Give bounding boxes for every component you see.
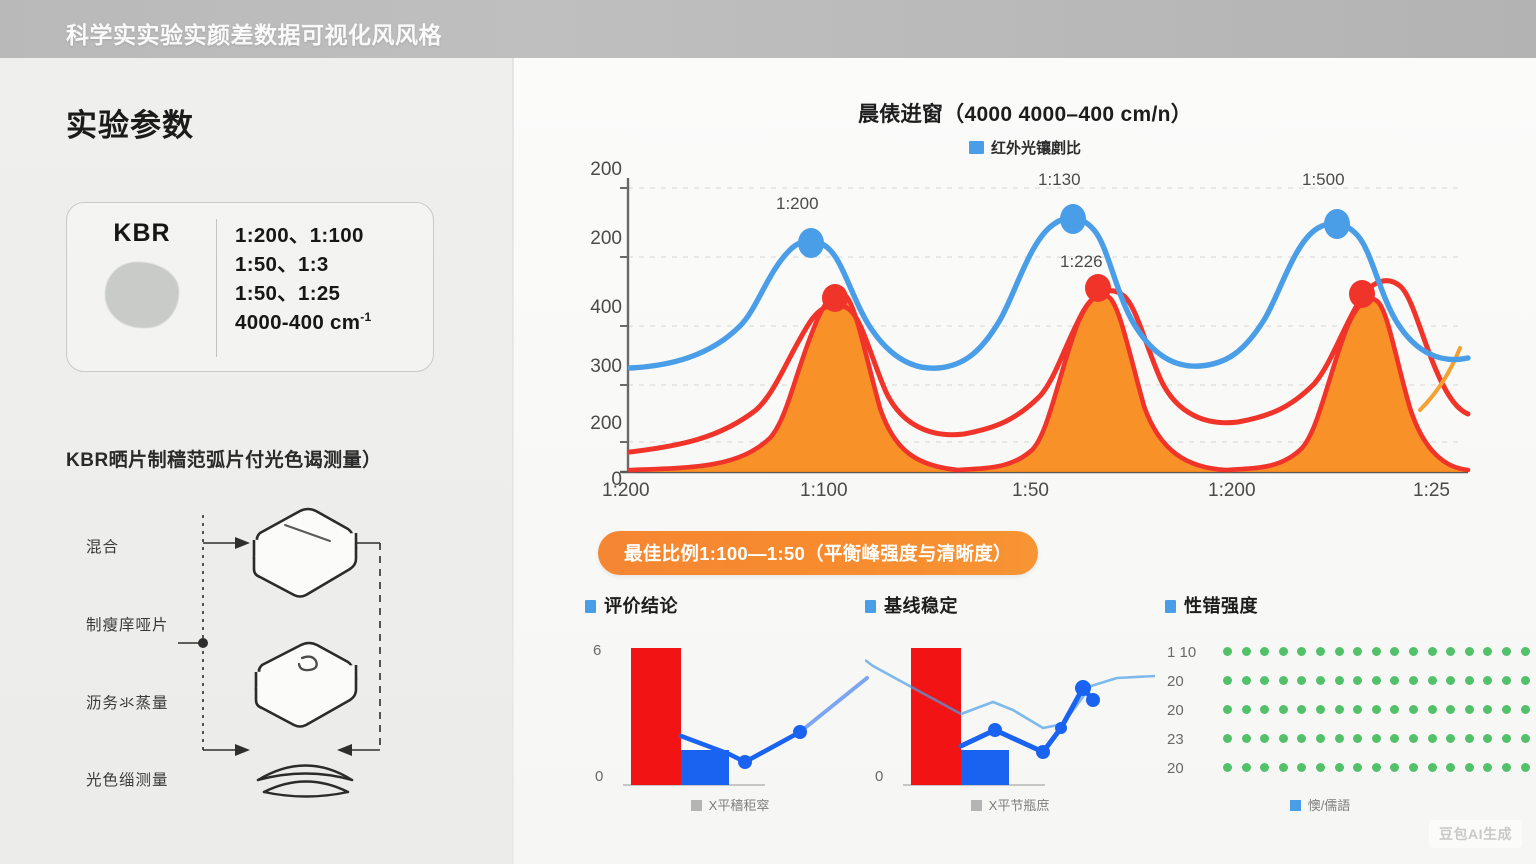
optimal-ratio-banner[interactable]: 最佳比例1:100—1:50（平衡峰强度与清晰度） [598, 531, 1038, 575]
mini-1-footer-text: X平穑秬窣 [709, 798, 770, 813]
dot [1521, 734, 1530, 743]
flow-diagram: 混合 制瘦庠哑片 沥务氺蒸量 光色缁测量 [60, 495, 460, 815]
dot [1446, 763, 1455, 772]
dot [1372, 734, 1381, 743]
mini-chart-2-title: 基线稳定 [865, 592, 1155, 618]
dot [1279, 705, 1288, 714]
kbr-range-text: 4000-400 cm [235, 311, 360, 334]
dot [1316, 705, 1325, 714]
dot [1465, 647, 1474, 656]
mini-3-swatch-icon [1165, 600, 1176, 613]
mini-chart-baseline: 基线稳定 0 X平节瓶庶 [865, 592, 1155, 842]
mini-1-footer-swatch-icon [691, 800, 702, 811]
dot [1465, 734, 1474, 743]
dot [1297, 705, 1306, 714]
mini-chart-3-title: 性错强度 [1165, 592, 1475, 618]
dot [1390, 705, 1399, 714]
dot [1242, 676, 1251, 685]
dot-row-2 [1223, 676, 1536, 685]
dot [1465, 705, 1474, 714]
mini-chart-evaluation: 评价结论 6 0 X平穑秬窣 [585, 592, 875, 842]
dot [1260, 676, 1269, 685]
dot [1260, 647, 1269, 656]
kbr-label: KBR [113, 219, 170, 248]
dot [1316, 676, 1325, 685]
mini-1-title-text: 评价结论 [604, 596, 678, 616]
mini-2-footer-text: X平节瓶庶 [989, 798, 1050, 813]
dot [1446, 676, 1455, 685]
x-tick-2: 1:50 [1012, 480, 1049, 502]
mini-chart-intensity: 性错强度 1 1020202320 懊/儒語 [1165, 592, 1475, 842]
dot [1428, 763, 1437, 772]
main-chart-x-axis: 1:200 1:100 1:50 1:200 1:25 [560, 480, 1480, 510]
slide-root: 科学实实验实颜差数据可视化风风格 实验参数 KBR 1:200、1:100 1:… [0, 0, 1536, 864]
main-chart-legend: 红外光镶剫比 [514, 137, 1536, 158]
mini-chart-2-body: 0 X平节瓶庶 [865, 640, 1155, 810]
flow-diagram-sketch-icon [60, 495, 460, 815]
dot [1353, 763, 1362, 772]
dot [1390, 763, 1399, 772]
dot [1372, 647, 1381, 656]
dot [1242, 647, 1251, 656]
page-title: 科学实实验实颜差数据可视化风风格 [66, 16, 442, 50]
dot-row-label-3: 20 [1167, 702, 1184, 719]
kbr-value-line-1: 1:200、1:100 [235, 221, 433, 250]
dot [1335, 763, 1344, 772]
dot [1390, 647, 1399, 656]
dot [1521, 647, 1530, 656]
legend-swatch-icon [969, 141, 984, 154]
dot [1465, 763, 1474, 772]
dot-row-3 [1223, 705, 1536, 714]
dot [1483, 734, 1492, 743]
dot [1372, 676, 1381, 685]
mini-2-svg [865, 640, 1155, 800]
dot-row-4 [1223, 734, 1536, 743]
mini-3-footer-text: 懊/儒語 [1308, 798, 1351, 813]
mini-chart-1-body: 6 0 X平穑秬窣 [585, 640, 875, 810]
point-label-4: 1:226 [1060, 252, 1103, 272]
dot [1279, 763, 1288, 772]
dot [1502, 705, 1511, 714]
dot [1428, 676, 1437, 685]
dot [1223, 734, 1232, 743]
mini-1-swatch-icon [585, 600, 596, 613]
dot [1390, 676, 1399, 685]
dot [1242, 705, 1251, 714]
dot-row-5 [1223, 763, 1536, 772]
dot [1335, 734, 1344, 743]
mini-2-title-text: 基线稳定 [884, 596, 958, 616]
dot [1521, 763, 1530, 772]
dot [1483, 647, 1492, 656]
dot [1446, 734, 1455, 743]
mini-chart-1-title: 评价结论 [585, 592, 875, 618]
dot [1465, 676, 1474, 685]
dot [1446, 647, 1455, 656]
dot [1409, 647, 1418, 656]
dot [1409, 676, 1418, 685]
dot [1502, 676, 1511, 685]
mini-2-bar-red [911, 648, 961, 785]
dot-row-label-5: 20 [1167, 760, 1184, 777]
main-chart-plot: 1:200 1:130 1:500 1:226 [560, 170, 1480, 520]
dot-row-label-1: 1 10 [1167, 644, 1196, 661]
mini-2-footer-swatch-icon [971, 800, 982, 811]
x-tick-0: 1:200 [602, 480, 650, 502]
dot [1428, 647, 1437, 656]
dot [1502, 763, 1511, 772]
dot [1502, 647, 1511, 656]
dot [1335, 647, 1344, 656]
watermark: 豆包AI生成 [1429, 820, 1522, 848]
dot [1316, 647, 1325, 656]
dot [1372, 763, 1381, 772]
dot-row-1 [1223, 647, 1536, 656]
x-tick-1: 1:100 [800, 480, 848, 502]
dot [1279, 734, 1288, 743]
dot [1353, 647, 1362, 656]
dot [1483, 763, 1492, 772]
mini-3-footer-swatch-icon [1290, 800, 1301, 811]
dot [1279, 676, 1288, 685]
dot [1446, 705, 1455, 714]
dot [1297, 676, 1306, 685]
dot [1335, 705, 1344, 714]
dot [1353, 705, 1362, 714]
dot [1428, 734, 1437, 743]
card-vertical-divider [216, 219, 218, 357]
dot [1428, 705, 1437, 714]
dot [1223, 647, 1232, 656]
main-chart-svg [560, 170, 1480, 490]
mini-1-bar-blue [681, 750, 729, 785]
dot [1260, 734, 1269, 743]
point-label-1: 1:200 [776, 194, 819, 214]
top-header-bar: 科学实实验实颜差数据可视化风风格 [0, 0, 1536, 58]
dot [1409, 763, 1418, 772]
kbr-parameter-card: KBR 1:200、1:100 1:50、1:3 1:50、1:25 4000-… [66, 202, 434, 372]
kbr-card-values: 1:200、1:100 1:50、1:3 1:50、1:25 4000-400 … [217, 203, 433, 371]
dot [1353, 676, 1362, 685]
dot [1223, 705, 1232, 714]
dot [1316, 763, 1325, 772]
dot [1521, 705, 1530, 714]
dot [1372, 705, 1381, 714]
mini-1-bar-red [631, 648, 681, 785]
kbr-superscript: -1 [360, 311, 371, 325]
dot [1242, 763, 1251, 772]
dot [1260, 705, 1269, 714]
dot [1409, 734, 1418, 743]
dot [1223, 763, 1232, 772]
dot [1297, 734, 1306, 743]
kbr-value-line-2: 1:50、1:3 [235, 250, 433, 279]
flow-diagram-title: KBR晒片制穑范弧片付光色谒测量） [66, 445, 382, 472]
mini-3-footer: 懊/儒語 [1165, 795, 1475, 814]
dot [1279, 647, 1288, 656]
mini-2-swatch-icon [865, 600, 876, 613]
dot [1353, 734, 1362, 743]
mini-3-title-text: 性错强度 [1184, 596, 1258, 616]
mini-1-footer: X平穑秬窣 [585, 795, 875, 814]
kbr-sample-blob-icon [105, 262, 179, 328]
kbr-value-line-3: 1:50、1:25 [235, 279, 433, 308]
mini-2-bar-blue [961, 750, 1009, 785]
dot [1521, 676, 1530, 685]
point-label-3: 1:500 [1302, 170, 1345, 190]
kbr-value-line-4: 4000-400 cm-1 [235, 308, 433, 337]
x-tick-4: 1:25 [1413, 480, 1450, 502]
dot [1335, 676, 1344, 685]
dot [1223, 676, 1232, 685]
dot [1297, 647, 1306, 656]
mini-2-footer: X平节瓶庶 [865, 795, 1155, 814]
dot [1316, 734, 1325, 743]
point-label-2: 1:130 [1038, 170, 1081, 190]
legend-label: 红外光镶剫比 [991, 140, 1081, 157]
dot [1297, 763, 1306, 772]
section-title: 实验参数 [66, 100, 194, 145]
dot-row-label-2: 20 [1167, 673, 1184, 690]
dot [1483, 705, 1492, 714]
dot [1483, 676, 1492, 685]
main-chart-title: 晨俵逬窗（4000 4000–400 cm/n） [514, 98, 1536, 128]
dot [1502, 734, 1511, 743]
x-tick-3: 1:200 [1208, 480, 1256, 502]
mini-chart-3-body: 1 1020202320 懊/儒語 [1165, 640, 1475, 810]
kbr-card-left: KBR [67, 203, 217, 371]
dot [1260, 763, 1269, 772]
mini-1-svg [585, 640, 875, 800]
dot-row-label-4: 23 [1167, 731, 1184, 748]
dot [1390, 734, 1399, 743]
dot [1242, 734, 1251, 743]
dot [1409, 705, 1418, 714]
